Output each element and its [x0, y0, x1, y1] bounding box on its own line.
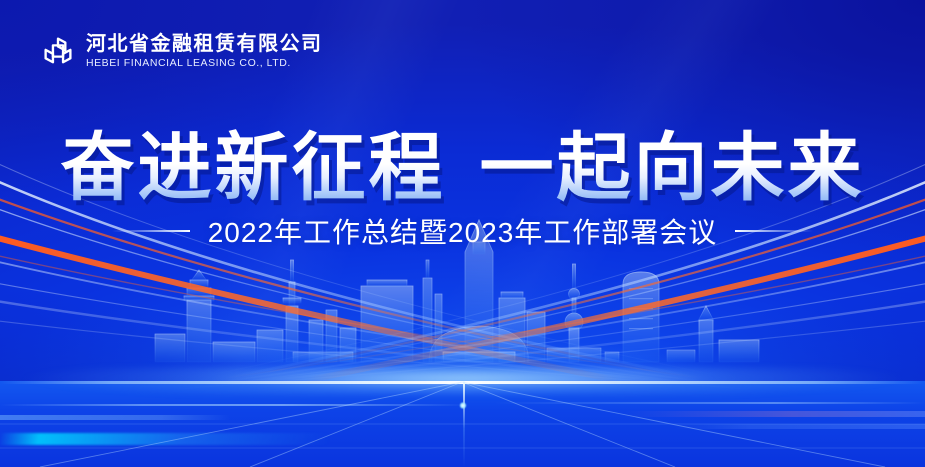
ground-streak-left-2 [0, 415, 230, 420]
center-light-spark [459, 402, 466, 409]
logo-text-block: 河北省金融租赁有限公司 HEBEI FINANCIAL LEASING CO.,… [86, 34, 323, 69]
company-logo: 河北省金融租赁有限公司 HEBEI FINANCIAL LEASING CO.,… [40, 33, 323, 69]
center-light-ray [463, 381, 465, 467]
headline: 奋进新征程一起向未来 [0, 108, 925, 215]
company-name-cn: 河北省金融租赁有限公司 [86, 34, 323, 54]
ground-streak-cyan [0, 433, 330, 445]
ground-streak-right-2 [625, 411, 925, 417]
conference-banner: 河北省金融租赁有限公司 HEBEI FINANCIAL LEASING CO.,… [0, 0, 925, 467]
subtitle-text: 2022年工作总结暨2023年工作部署会议 [208, 211, 718, 251]
company-name-en: HEBEI FINANCIAL LEASING CO., LTD. [86, 58, 323, 69]
ground-streak-right-3 [675, 424, 925, 429]
pinwheel-logo-icon [40, 33, 76, 69]
headline-part-1: 奋进新征程 [61, 126, 446, 209]
ground-streak-left-1 [0, 404, 470, 406]
ground-streak-right-1 [495, 402, 925, 404]
headline-part-2: 一起向未来 [480, 126, 865, 209]
subtitle-row: 2022年工作总结暨2023年工作部署会议 [0, 211, 925, 251]
subtitle-rule-right [735, 230, 813, 232]
subtitle-rule-left [112, 230, 190, 232]
